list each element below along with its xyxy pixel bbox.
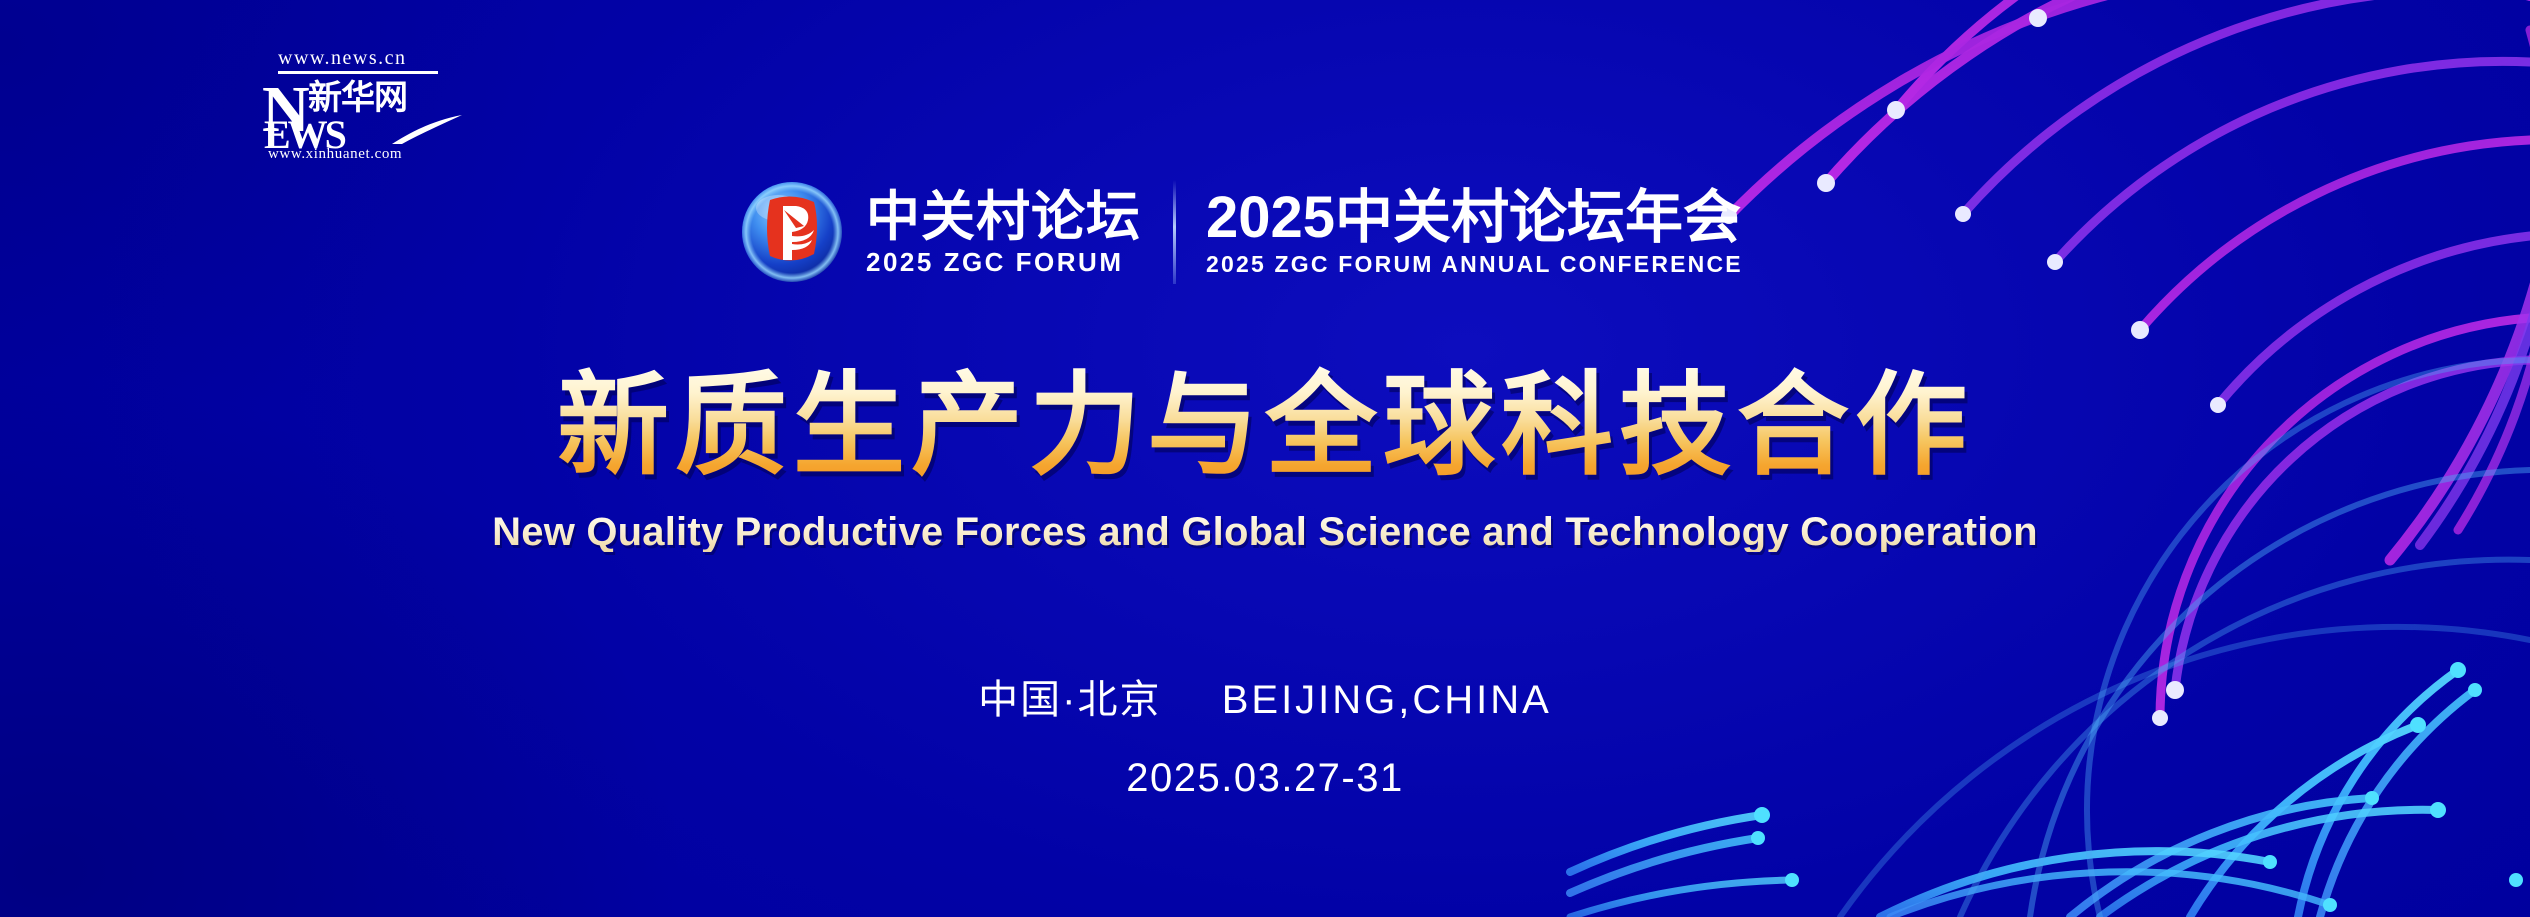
magenta-arc-cluster [1729, 0, 2530, 718]
theme-title-cn: 新质生产力与全球科技合作 [0, 366, 2530, 487]
zgc-left-text-block: 中关村论坛 2025 ZGC FORUM [866, 189, 1141, 276]
zgc-right-text-block: 2025中关村论坛年会 2025 ZGC FORUM ANNUAL CONFER… [1206, 188, 1743, 277]
zgc-emblem-icon [740, 180, 844, 284]
annual-conference-cn: 2025中关村论坛年会 [1206, 188, 1743, 249]
xinhua-logo-wordmark: N 新华网 EWS [262, 75, 462, 145]
swoosh-icon [390, 113, 464, 145]
lockup-divider [1173, 180, 1176, 284]
xinhua-url-top: www.news.cn [262, 48, 462, 68]
zgc-forum-lockup: 中关村论坛 2025 ZGC FORUM 2025中关村论坛年会 2025 ZG… [740, 172, 1743, 292]
zgc-forum-cn: 中关村论坛 [866, 189, 1141, 246]
event-dates: 2025.03.27-31 [0, 758, 2530, 798]
theme-title-en: New Quality Productive Forces and Global… [0, 512, 2530, 552]
xinhua-brand-cn: 新华网 [308, 81, 407, 115]
event-location-cn: 中国·北京 [978, 678, 1161, 722]
annual-conference-en: 2025 ZGC FORUM ANNUAL CONFERENCE [1206, 253, 1743, 276]
xinhua-news-logo[interactable]: www.news.cn N 新华网 EWS www.xinhuanet.com [262, 48, 462, 168]
xinhua-word-news: EWS [264, 115, 344, 155]
event-location-en: BEIJING,CHINA [1222, 678, 1552, 722]
event-location: 中国·北京 BEIJING,CHINA [0, 680, 2530, 720]
conference-banner: www.news.cn N 新华网 EWS www.xinhuanet.com [0, 0, 2530, 917]
zgc-forum-en: 2025 ZGC FORUM [866, 249, 1141, 275]
